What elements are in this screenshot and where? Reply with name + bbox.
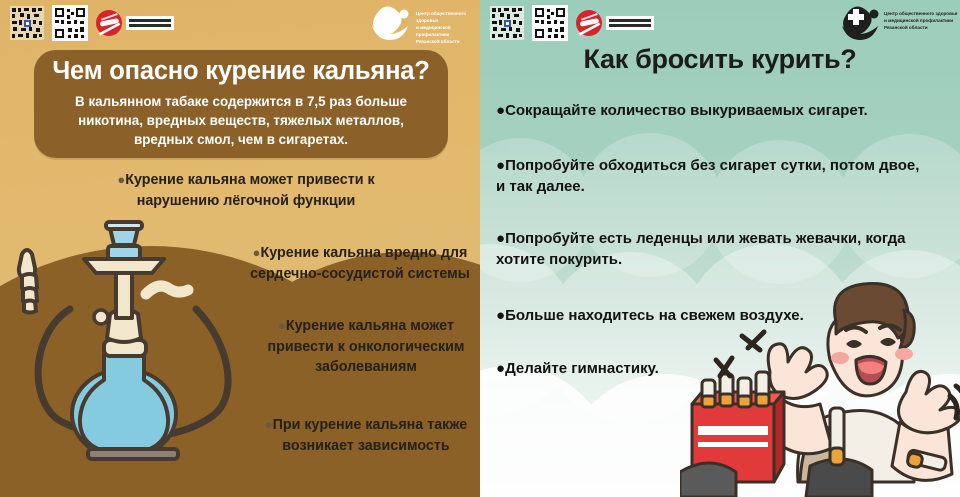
list-item: ●Делайте гимнастику. [496, 358, 928, 379]
qr-code-1-icon [10, 6, 44, 40]
left-poster-panel: Центр общественного здоровья и медицинск… [0, 0, 480, 497]
left-header-strip: Центр общественного здоровья и медицинск… [0, 0, 480, 46]
list-item-label: Курение кальяна вредно для сердечно-сосу… [250, 245, 470, 282]
list-item: ●Курение кальяна вредно для сердечно-сос… [236, 243, 480, 284]
list-item: ●Попробуйте есть леденцы или жевать жева… [496, 228, 928, 271]
right-poster-panel: Центр общественного здоровья и медицинск… [480, 0, 960, 497]
org-name-line3: Рязанской области [416, 38, 480, 45]
bullet-marker-icon: ● [496, 102, 505, 119]
hotline-label [606, 16, 654, 30]
no-smoking-icon [96, 10, 122, 36]
bullet-marker-icon: ● [253, 245, 261, 260]
right-header-strip: Центр общественного здоровья и медицинск… [480, 0, 960, 46]
org-name-line1: Центр общественного здоровья [416, 10, 480, 24]
list-item: ●При курение кальяна также возникает зав… [248, 415, 480, 456]
qr-code-2-icon [52, 5, 88, 41]
right-bullet-list: ●Сокращайте количество выкуриваемых сига… [480, 0, 960, 497]
list-item-label: Делайте гимнастику. [505, 360, 659, 377]
list-item-label: Курение кальяна может привести к онколог… [268, 318, 465, 375]
org-name-line2: и медицинской профилактики [416, 24, 480, 38]
list-item: ●Курение кальяна может привести к онколо… [248, 316, 480, 378]
list-item: ●Сокращайте количество выкуриваемых сига… [496, 100, 928, 121]
health-center-logo-icon [842, 6, 879, 40]
list-item: ●Попробуйте обходиться без сигарет сутки… [496, 155, 928, 198]
org-name-line3: Рязанской области [884, 24, 957, 31]
poster-pair: Центр общественного здоровья и медицинск… [0, 0, 960, 497]
bullet-marker-icon: ● [278, 318, 286, 333]
list-item-label: При курение кальяна также возникает зави… [273, 417, 468, 454]
org-name-line1: Центр общественного здоровья [884, 10, 957, 17]
bullet-marker-icon: ● [265, 417, 273, 432]
bullet-marker-icon: ● [496, 307, 505, 324]
qr-code-1-icon [490, 6, 524, 40]
no-smoking-icon [576, 10, 602, 36]
list-item-label: Сокращайте количество выкуриваемых сигар… [505, 102, 868, 119]
list-item-label: Попробуйте обходиться без сигарет сутки,… [496, 157, 919, 195]
bullet-marker-icon: ● [496, 360, 505, 377]
list-item-label: Попробуйте есть леденцы или жевать жевач… [496, 230, 905, 268]
list-item-label: Курение кальяна может привести к нарушен… [125, 172, 374, 209]
bullet-marker-icon: ● [496, 230, 505, 247]
bullet-marker-icon: ● [496, 157, 505, 174]
org-name-line2: и медицинской профилактики [884, 17, 957, 24]
hotline-label [126, 16, 174, 30]
health-center-logo-icon [372, 6, 409, 40]
list-item: ●Больше находитесь на свежем воздухе. [496, 305, 928, 326]
list-item: ●Курение кальяна может привести к наруше… [76, 170, 416, 211]
list-item-label: Больше находитесь на свежем воздухе. [505, 307, 804, 324]
left-bullet-list: ●Курение кальяна может привести к наруше… [0, 0, 480, 497]
qr-code-2-icon [532, 5, 568, 41]
